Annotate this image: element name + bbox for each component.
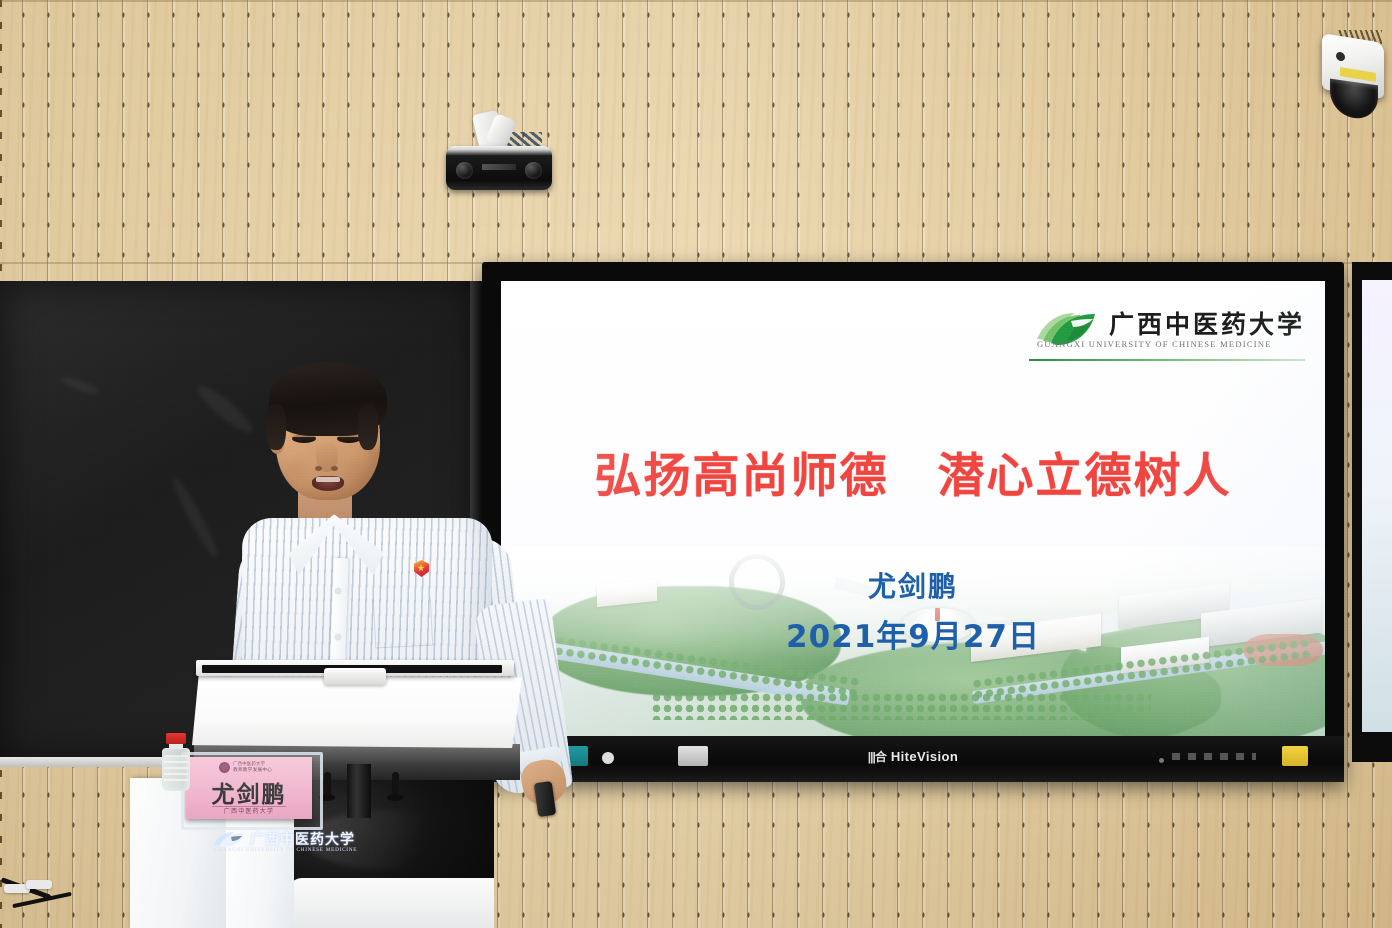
logo-underline (1029, 359, 1305, 361)
bottle-ribs (164, 755, 188, 783)
main-display[interactable]: 广西中医药大学 GUANGXI UNIVERSITY OF CHINESE ME… (482, 262, 1344, 782)
secondary-display-screen (1362, 280, 1392, 732)
camera-brand-text (482, 164, 516, 170)
lectern-leaf-logo-icon (212, 831, 246, 848)
display-bottom-bezel: |||合HiteVision (482, 736, 1344, 782)
name-card-holder (181, 752, 323, 830)
university-logo: 广西中医药大学 GUANGXI UNIVERSITY OF CHINESE ME… (1035, 307, 1303, 359)
university-logo-cn: 广西中医药大学 (1109, 305, 1305, 341)
slide-date: 2021年9月27日 (501, 611, 1325, 656)
nostril-right (331, 466, 338, 471)
display-screen: 广西中医药大学 GUANGXI UNIVERSITY OF CHINESE ME… (501, 281, 1325, 736)
shirt-pocket (373, 597, 433, 649)
lectern-desktop-face[interactable] (192, 676, 522, 748)
lectern-base-panel (288, 878, 494, 928)
display-brand: |||合HiteVision (868, 748, 958, 765)
nostril-left (315, 466, 322, 471)
power-led (1159, 758, 1164, 763)
university-logo-en: GUANGXI UNIVERSITY OF CHINESE MEDICINE (1037, 339, 1272, 349)
bottle-cap (166, 733, 186, 744)
dual-lens-tracking-camera (446, 112, 552, 190)
slide-title: 弘扬高尚师德 潜心立德树人 (501, 437, 1325, 506)
slide-speaker-name: 尤剑鹏 (501, 565, 1325, 605)
bezel-ports[interactable] (1172, 753, 1256, 760)
camera-dome-lens (1330, 79, 1378, 122)
photo-scene: 广西中医药大学 GUANGXI UNIVERSITY OF CHINESE ME… (0, 0, 1392, 928)
cheek-left (280, 452, 310, 488)
bezel-label-grey (678, 746, 708, 766)
presentation-slide: 广西中医药大学 GUANGXI UNIVERSITY OF CHINESE ME… (501, 281, 1325, 736)
lectern-logo-cn: 广西中医药大学 (250, 829, 355, 849)
secondary-display[interactable] (1352, 262, 1392, 762)
water-bottle[interactable] (160, 733, 192, 791)
lectern-university-logo: 广西中医药大学 GUANGXI UNIVERSITY OF CHINESE ME… (212, 829, 362, 855)
lectern-logo-en: GUANGXI UNIVERSITY OF CHINESE MEDICINE (214, 847, 357, 853)
lectern-clip[interactable] (324, 668, 386, 685)
cable-clip (26, 880, 52, 889)
camera-lens-left (456, 162, 473, 179)
bezel-warning-label (1282, 746, 1308, 766)
brand-name: HiteVision (891, 749, 958, 764)
hair-side-right (358, 404, 378, 450)
camera-lens-right (525, 162, 542, 179)
ptz-dome-camera (1318, 30, 1388, 126)
teeth (316, 477, 340, 482)
cheek-right (342, 452, 372, 488)
brand-mark-icon: |||合 (868, 748, 886, 765)
monitor-foot-right (387, 794, 403, 801)
bezel-knob[interactable] (602, 752, 614, 764)
monitor-stand (347, 764, 371, 818)
hair-side-left (266, 404, 286, 450)
